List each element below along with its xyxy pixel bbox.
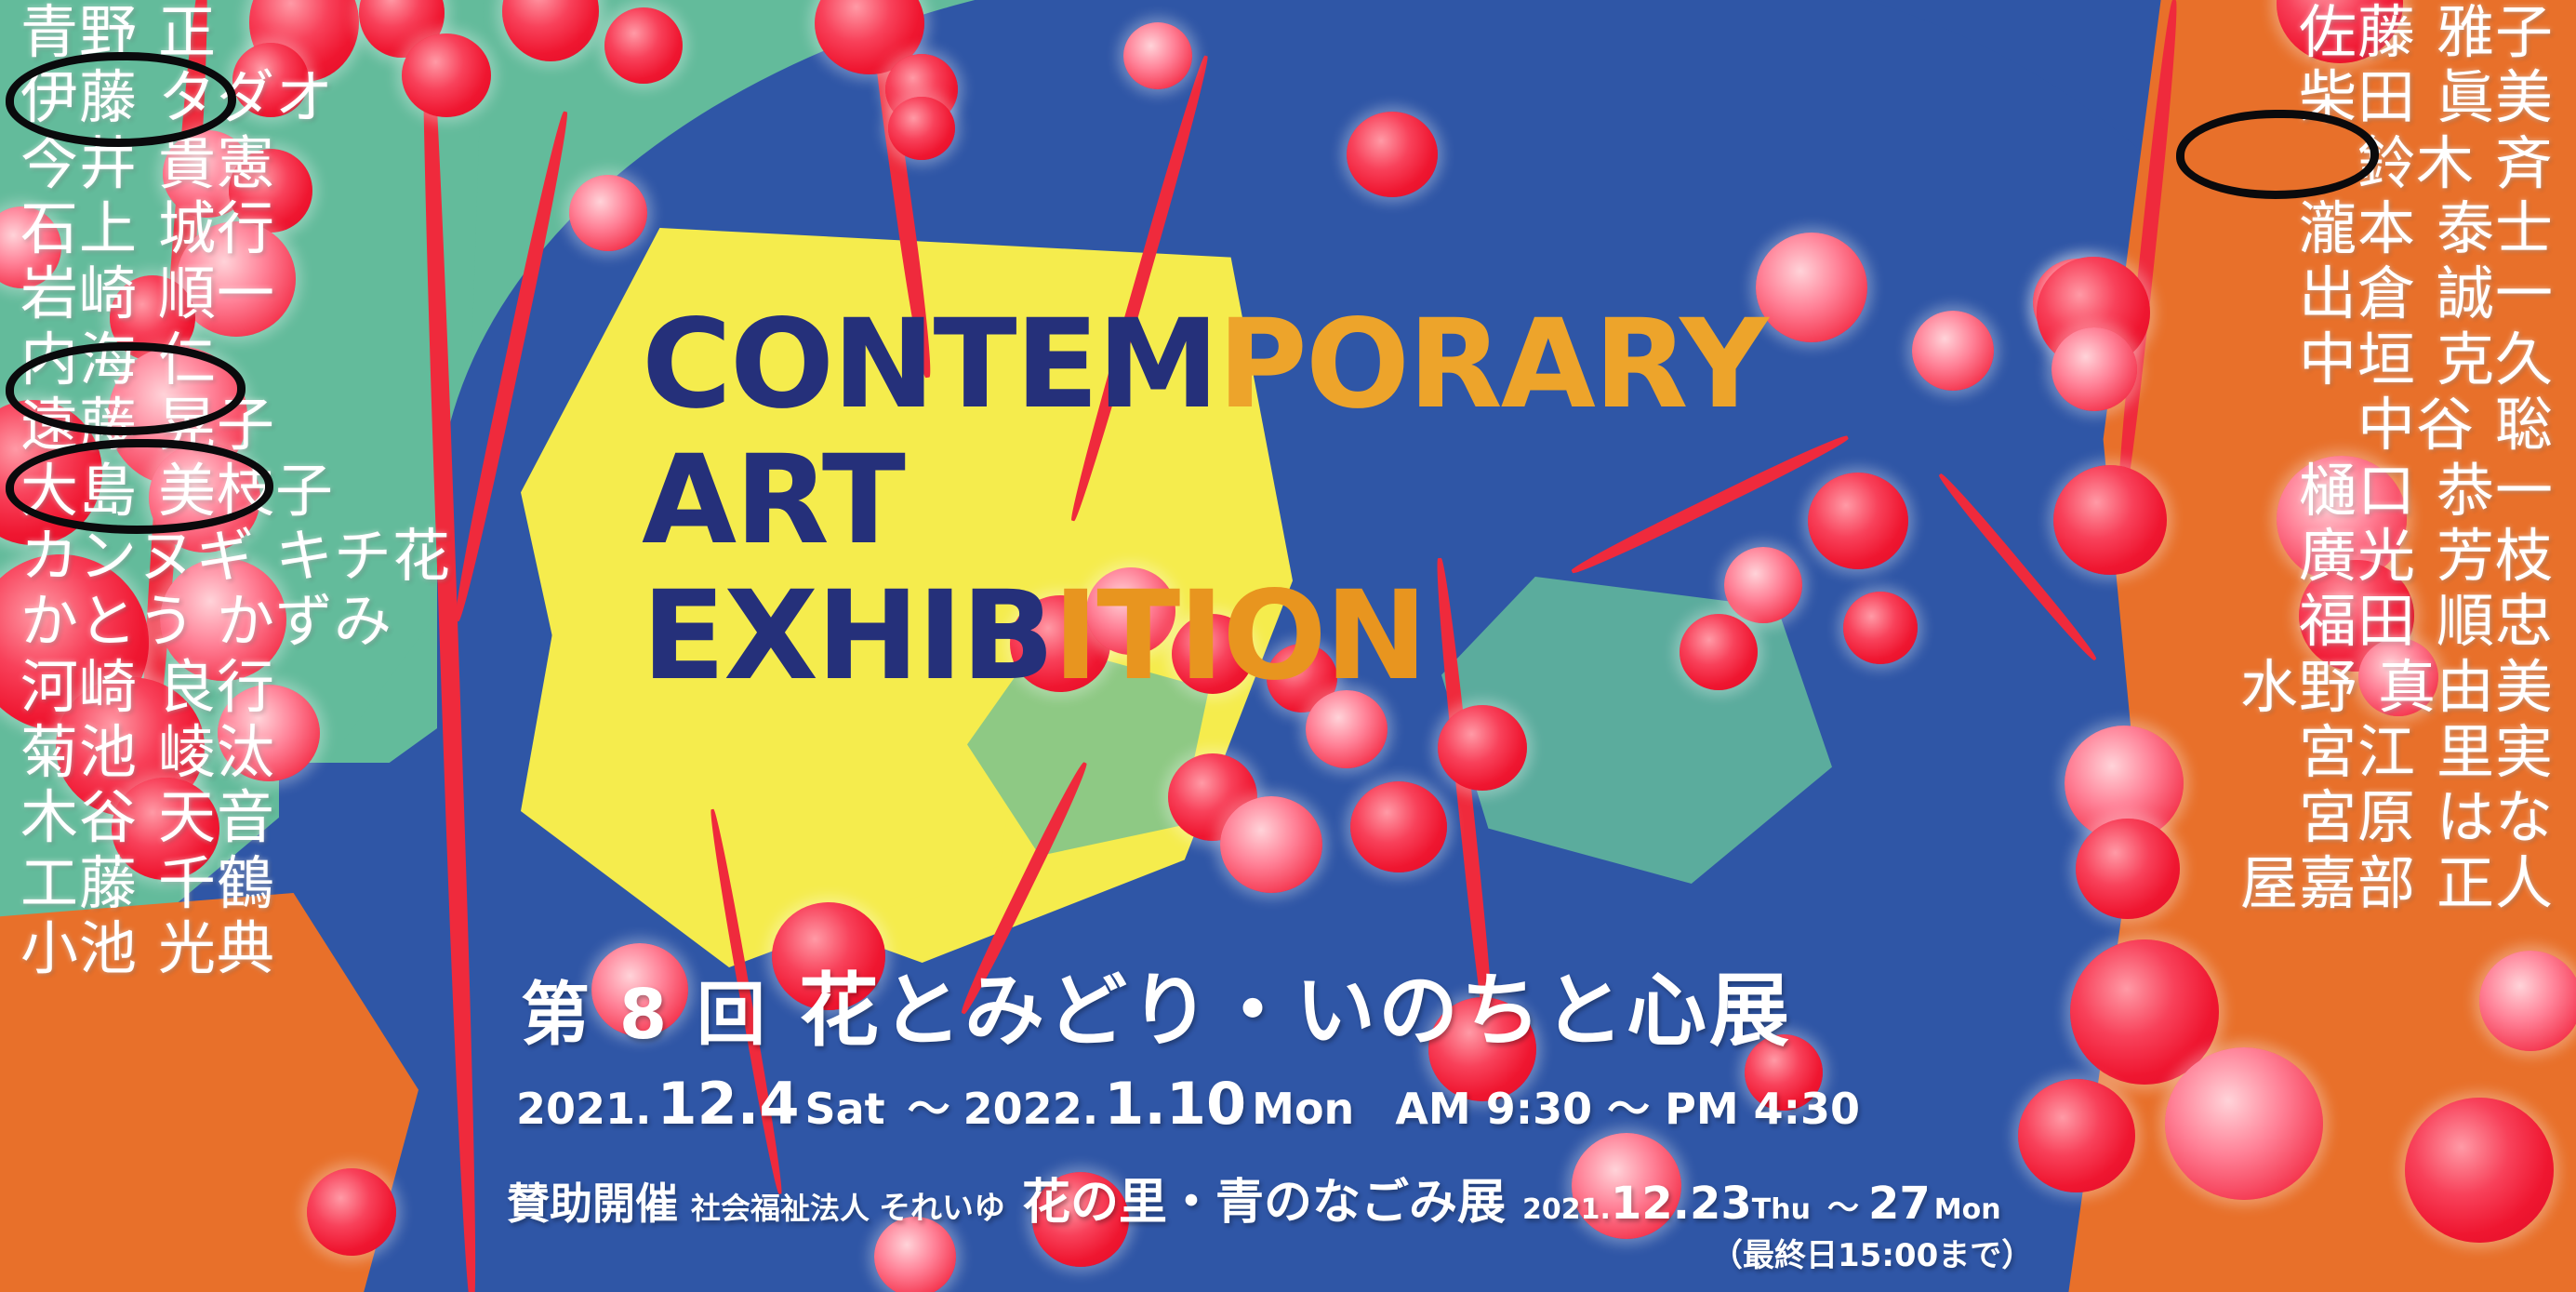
start-year: 2021.: [516, 1084, 652, 1134]
artist-surname: カンヌギ: [20, 522, 255, 590]
artist-surname: 樋口: [2299, 457, 2416, 525]
artist-name-row: 菊池崚汰: [20, 720, 275, 785]
artist-name-row: 石上城行: [20, 196, 275, 261]
artist-surname: 柴田: [2299, 63, 2416, 131]
title-contem: CONTEM: [642, 293, 1217, 436]
artist-surname: 遠藤: [20, 391, 138, 459]
artist-name-row: 内海仁: [20, 327, 217, 393]
date-range-separator: 〜: [908, 1075, 950, 1137]
title-line-1: CONTEMPORARY: [642, 307, 1767, 422]
artist-given-name: タダオ: [158, 63, 334, 131]
artist-surname: 廣光: [2299, 522, 2416, 590]
start-dow: Sat: [805, 1084, 885, 1134]
artist-name-row: 大島美枝子: [20, 459, 334, 524]
artist-name-row: 佐藤雅子: [2299, 0, 2554, 65]
artist-list-left: 青野正伊藤タダオ今井貴憲石上城行岩崎順一内海仁遠藤晃子大島美枝子カンヌギキチ花か…: [20, 0, 411, 981]
artist-surname: 岩崎: [20, 260, 138, 327]
title-ition: ITION: [1053, 565, 1426, 708]
artist-name-row: 樋口恭一: [2299, 459, 2554, 524]
flower-blob: [1220, 796, 1322, 893]
artist-name-row: 中垣克久: [2299, 327, 2554, 393]
flower-blob: [1912, 311, 1994, 391]
title-line-3: EXHIBITION: [642, 579, 1767, 694]
title-exhib: EXHIB: [642, 565, 1053, 708]
artist-name-row: 水野真由美: [2240, 655, 2554, 720]
flower-blob: [1123, 22, 1192, 89]
flower-blob: [1438, 705, 1527, 791]
artist-given-name: かずみ: [217, 587, 392, 655]
artist-list-right: 佐藤雅子柴田眞美鈴木斉瀧本泰士出倉誠一中垣克久中谷聡樋口恭一廣光芳枝福田順忠水野…: [2163, 0, 2554, 916]
artist-name-row: 遠藤晃子: [20, 393, 275, 458]
artist-surname: 福田: [2299, 587, 2416, 655]
flower-blob: [307, 1168, 396, 1256]
artist-given-name: はな: [2437, 783, 2554, 851]
sponsor-corp-type: 社会福祉法人: [691, 1185, 870, 1228]
artist-surname: 宮原: [2299, 783, 2416, 851]
flower-blob: [1347, 112, 1438, 197]
flower-blob: [2018, 1079, 2135, 1192]
artist-surname: 伊藤: [20, 63, 138, 131]
artist-given-name: 美枝子: [158, 457, 334, 525]
artist-given-name: 崚汰: [158, 718, 275, 786]
artist-name-row: 鈴木斉: [2357, 131, 2554, 196]
artist-surname: かとう: [20, 587, 196, 655]
title-porary: PORARY: [1217, 293, 1767, 436]
artist-name-row: 宮原はな: [2299, 785, 2554, 850]
artist-surname: 中谷: [2357, 391, 2475, 459]
flower-blob: [2165, 1047, 2323, 1200]
japanese-exhibition-title: 第 8 回 花とみどり・いのちと心展: [521, 945, 1792, 1061]
sponsor-org-name: それいゆ: [879, 1182, 1005, 1228]
artist-surname: 工藤: [20, 849, 138, 917]
artist-given-name: 雅子: [2437, 0, 2554, 66]
exhibition-dates: 2021. 12.4 Sat 〜 2022. 1.10 Mon AM 9:30 …: [516, 1070, 1860, 1138]
artist-name-row: 伊藤タダオ: [20, 65, 334, 130]
flower-blob: [604, 7, 683, 84]
artist-surname: 宮江: [2299, 718, 2416, 786]
flower-blob: [2053, 465, 2167, 575]
artist-surname: 瀧本: [2299, 194, 2416, 262]
artist-name-row: 木谷天音: [20, 785, 275, 850]
artist-name-row: 工藤千鶴: [20, 851, 275, 916]
artist-given-name: 泰士: [2437, 194, 2554, 262]
sponsor-end-dow: Mon: [1934, 1193, 2001, 1226]
flower-blob: [2405, 1098, 2554, 1243]
artist-name-row: 瀧本泰士: [2299, 196, 2554, 261]
sponsor-start-date: 12.23: [1611, 1178, 1752, 1230]
artist-name-row: 河崎良行: [20, 655, 275, 720]
sponsor-start-dow: Thu: [1752, 1193, 1811, 1226]
artist-surname: 小池: [20, 914, 138, 982]
artist-surname: 中垣: [2299, 326, 2416, 393]
artist-given-name: 光典: [158, 914, 275, 982]
artist-surname: 大島: [20, 457, 138, 525]
opening-hours: AM 9:30 〜 PM 4:30: [1395, 1075, 1860, 1137]
flower-blob: [1843, 592, 1918, 664]
artist-surname: 出倉: [2299, 260, 2416, 327]
artist-given-name: 城行: [158, 194, 275, 262]
artist-surname: 鈴木: [2357, 129, 2475, 197]
artist-name-row: カンヌギキチ花: [20, 524, 451, 589]
end-date: 1.10: [1104, 1070, 1246, 1138]
exhibition-name-jp: 花とみどり・いのちと心展: [799, 965, 1792, 1058]
sponsor-year: 2021.: [1522, 1193, 1611, 1226]
end-year: 2022.: [963, 1084, 1099, 1134]
flower-blob: [2052, 327, 2137, 411]
artist-given-name: 順一: [158, 260, 275, 327]
artist-given-name: 千鶴: [158, 849, 275, 917]
exhibition-title: CONTEMPORARY ART EXHIBITION: [642, 307, 1767, 694]
artist-given-name: 克久: [2437, 326, 2554, 393]
artist-given-name: 真由美: [2378, 653, 2554, 721]
artist-name-row: 今井貴憲: [20, 131, 275, 196]
artist-surname: 菊池: [20, 718, 138, 786]
artist-surname: 水野: [2240, 653, 2357, 721]
artist-name-row: 宮江里実: [2299, 720, 2554, 785]
flower-blob: [402, 33, 491, 117]
artist-surname: 青野: [20, 0, 138, 66]
artist-given-name: 誠一: [2437, 260, 2554, 327]
artist-name-row: かとうかずみ: [20, 589, 392, 654]
artist-name-row: 福田順忠: [2299, 589, 2554, 654]
sponsor-end-date: 27: [1868, 1178, 1931, 1230]
artist-name-row: 柴田眞美: [2299, 65, 2554, 130]
sponsor-event-name: 花の里・青のなごみ展: [1022, 1163, 1506, 1232]
artist-surname: 木谷: [20, 783, 138, 851]
artist-given-name: 里実: [2437, 718, 2554, 786]
artist-given-name: 聡: [2495, 391, 2554, 459]
artist-surname: 佐藤: [2299, 0, 2416, 66]
flower-blob: [1350, 781, 1447, 872]
artist-name-row: 青野正: [20, 0, 217, 65]
artist-given-name: キチ花: [275, 522, 451, 590]
flower-blob: [2479, 951, 2576, 1051]
title-art: ART: [642, 429, 904, 572]
artist-surname: 石上: [20, 194, 138, 262]
start-date: 12.4: [657, 1070, 800, 1138]
artist-given-name: 仁: [158, 326, 217, 393]
artist-name-row: 中谷聡: [2357, 393, 2554, 458]
artist-given-name: 貴憲: [158, 129, 275, 197]
artist-name-row: 岩崎順一: [20, 261, 275, 326]
artist-given-name: 斉: [2495, 129, 2554, 197]
artist-name-row: 屋嘉部正人: [2240, 851, 2554, 916]
artist-surname: 河崎: [20, 653, 138, 721]
title-line-2: ART: [642, 443, 1767, 558]
flower-blob: [1756, 233, 1867, 342]
artist-name-row: 廣光芳枝: [2299, 524, 2554, 589]
final-day-note: （最終日15:00まで）: [1711, 1230, 2033, 1275]
flower-blob: [569, 175, 647, 251]
artist-given-name: 良行: [158, 653, 275, 721]
artist-name-row: 小池光典: [20, 916, 275, 981]
artist-name-row: 出倉誠一: [2299, 261, 2554, 326]
artist-surname: 今井: [20, 129, 138, 197]
artist-given-name: 正: [158, 0, 217, 66]
artist-given-name: 眞美: [2437, 63, 2554, 131]
artist-surname: 屋嘉部: [2240, 849, 2416, 917]
flower-blob: [1808, 473, 1908, 569]
flower-blob: [888, 97, 955, 160]
artist-given-name: 正人: [2437, 849, 2554, 917]
sponsor-label: 賛助開催: [507, 1170, 678, 1232]
edition-number: 第 8 回: [521, 975, 768, 1055]
sponsor-date-separator: 〜: [1827, 1182, 1859, 1228]
artist-given-name: 恭一: [2437, 457, 2554, 525]
artist-given-name: 晃子: [158, 391, 275, 459]
exhibition-poster: CONTEMPORARY ART EXHIBITION 第 8 回 花とみどり・…: [0, 0, 2576, 1292]
artist-given-name: 順忠: [2437, 587, 2554, 655]
sponsor-event-line: 賛助開催 社会福祉法人 それいゆ 花の里・青のなごみ展 2021. 12.23 …: [507, 1163, 2001, 1232]
end-dow: Mon: [1252, 1084, 1354, 1134]
artist-given-name: 芳枝: [2437, 522, 2554, 590]
artist-given-name: 天音: [158, 783, 275, 851]
artist-surname: 内海: [20, 326, 138, 393]
